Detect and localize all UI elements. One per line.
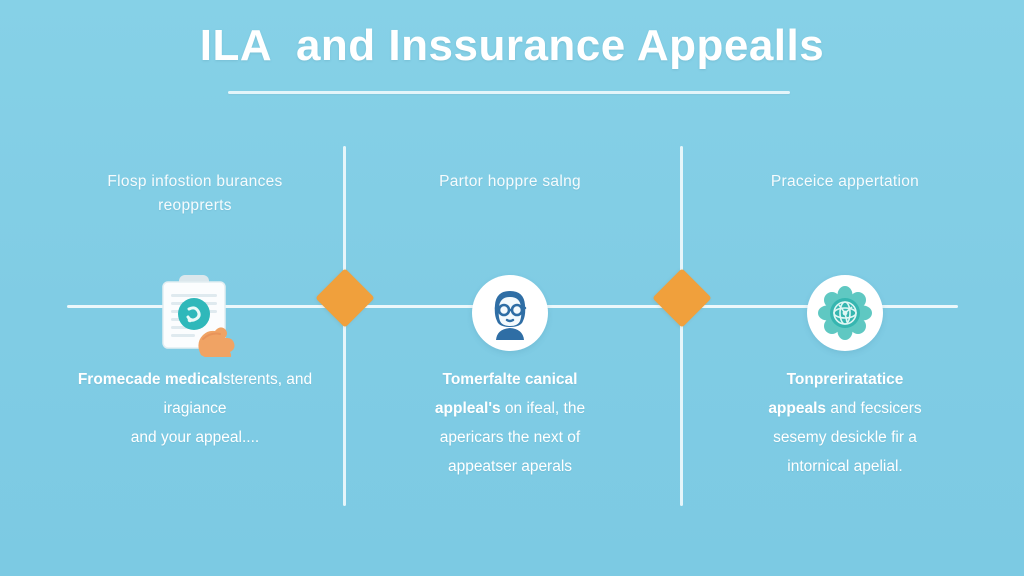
column-3-body: Tonpreriratatice appeals and fecsicers s… (695, 365, 995, 481)
column-1-heading: Flosp infostion burances reopprerts (45, 170, 345, 218)
page-title: ILA and Inssurance Appealls (0, 18, 1024, 74)
column-1-body: Fromecade medicalsterents, and iragiance… (45, 365, 345, 452)
clipboard-hand-icon (143, 269, 247, 357)
title-block: ILA and Inssurance Appealls (0, 18, 1024, 74)
timeline-column-1: Flosp infostion burances reopprerts (45, 170, 345, 218)
infographic-canvas: ILA and Inssurance Appealls Flosp infost… (0, 0, 1024, 576)
timeline-column-2: Partor hoppre salng (360, 170, 660, 218)
flower-atom-icon (817, 285, 873, 341)
timeline-column-3: Praceice appertation (695, 170, 995, 218)
column-2-icon-circle (472, 275, 548, 351)
column-2-heading: Partor hoppre salng (360, 170, 660, 218)
column-1-icon-slot (45, 268, 345, 358)
column-2-body: Tomerfalte canical appleal's on ifeal, t… (360, 365, 660, 481)
column-3-heading: Praceice appertation (695, 170, 995, 218)
person-glasses-icon (483, 286, 537, 340)
title-underline (228, 91, 790, 94)
column-3-icon-circle (807, 275, 883, 351)
column-2-icon-slot (360, 268, 660, 358)
column-1-body-lead: Fromecade medical (78, 371, 223, 388)
column-3-icon-slot (695, 268, 995, 358)
